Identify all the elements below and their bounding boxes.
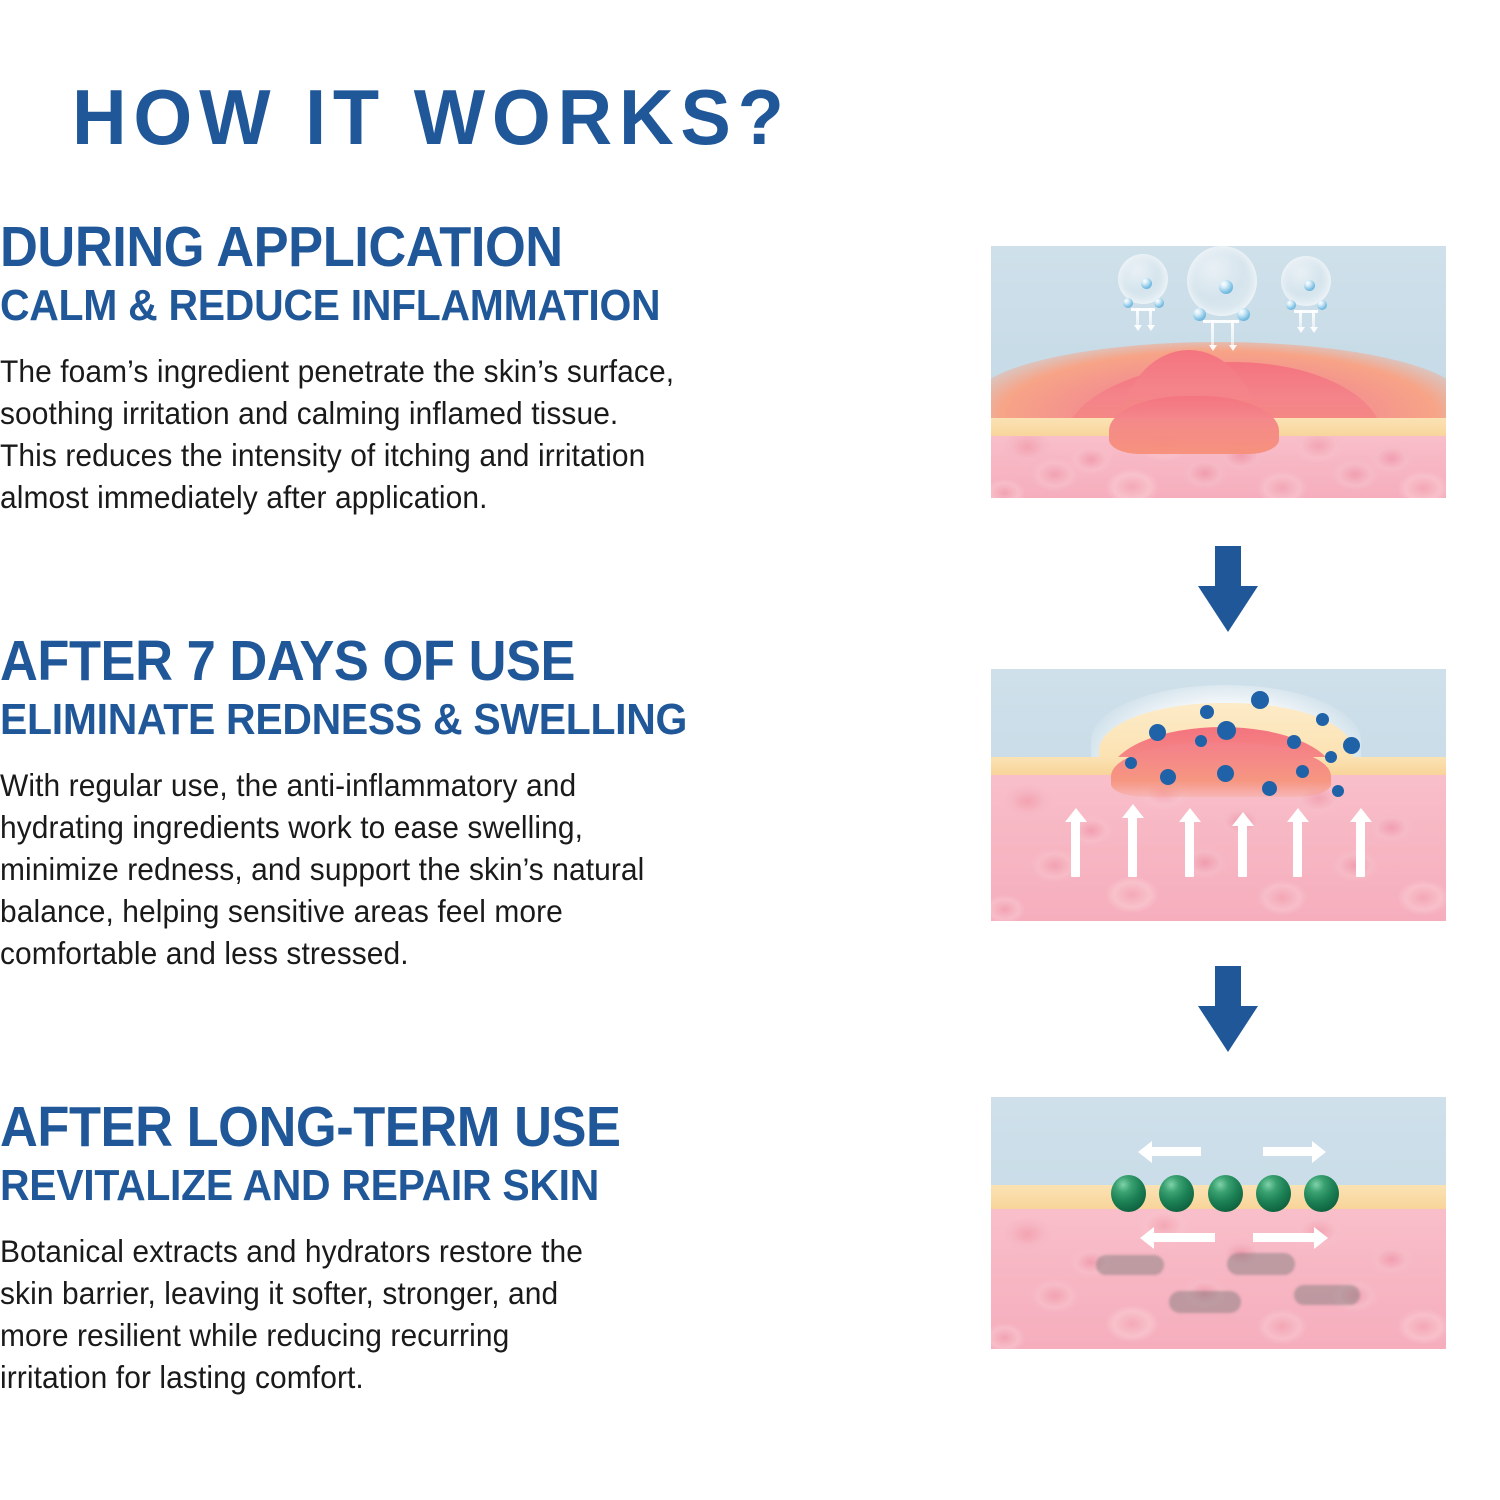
active-particle: [1195, 735, 1207, 747]
water-molecule-dot: [1154, 298, 1164, 308]
dermis-spread-arrow-left: [1153, 1233, 1215, 1242]
section-3-subheading: REVITALIZE AND REPAIR SKIN: [0, 1163, 837, 1209]
section-1-text: DURING APPLICATION CALM & REDUCE INFLAMM…: [0, 218, 900, 519]
active-particle: [1296, 765, 1309, 778]
foam-down-arrow: [1136, 308, 1139, 326]
section-2-text: AFTER 7 DAYS OF USE ELIMINATE REDNESS & …: [0, 632, 900, 975]
section-1-heading: DURING APPLICATION: [0, 218, 828, 276]
grey-capsule: [1169, 1291, 1241, 1313]
absorption-up-arrow: [1293, 821, 1302, 877]
active-particle: [1343, 737, 1360, 754]
grey-capsule: [1227, 1253, 1295, 1275]
page-title: HOW IT WORKS?: [72, 78, 791, 156]
foam-down-arrow: [1231, 320, 1234, 346]
repair-sphere: [1256, 1175, 1291, 1212]
dermis-layer: [991, 1209, 1446, 1349]
absorption-up-arrow: [1356, 821, 1365, 877]
active-particle: [1332, 785, 1344, 797]
section-3-text: AFTER LONG-TERM USE REVITALIZE AND REPAI…: [0, 1098, 900, 1399]
repair-sphere: [1208, 1175, 1243, 1212]
active-particle: [1217, 765, 1234, 782]
water-molecule-dot: [1286, 300, 1296, 310]
grey-capsule: [1096, 1255, 1164, 1275]
water-molecule-dot: [1141, 278, 1152, 289]
water-molecule-dot: [1304, 280, 1315, 291]
active-particle: [1217, 721, 1236, 740]
foam-down-arrow: [1299, 310, 1302, 328]
section-3-body: Botanical extracts and hydrators restore…: [0, 1231, 855, 1399]
water-molecule-dot: [1219, 280, 1233, 294]
active-particle: [1262, 781, 1277, 796]
illustration-panel-3: [991, 1097, 1446, 1349]
absorption-up-arrow: [1128, 817, 1137, 877]
section-1-subheading: CALM & REDUCE INFLAMMATION: [0, 283, 837, 329]
repair-sphere: [1111, 1175, 1146, 1212]
section-1-body: The foam’s ingredient penetrate the skin…: [0, 351, 855, 519]
dermis-spread-arrow-right: [1253, 1233, 1315, 1242]
barrier-spread-arrow-left: [1151, 1147, 1201, 1156]
water-molecule-dot: [1123, 298, 1133, 308]
active-particle: [1149, 724, 1166, 741]
inflamed-bump-base: [1109, 396, 1279, 454]
active-particle: [1325, 751, 1337, 763]
arrow-head: [1198, 1006, 1258, 1052]
arrow-step-1-to-2: [1188, 546, 1268, 636]
foam-down-arrow: [1149, 308, 1152, 326]
repair-sphere: [1159, 1175, 1194, 1212]
illustration-panel-1: [991, 246, 1446, 498]
active-particle: [1160, 769, 1176, 785]
barrier-spread-arrow-right: [1263, 1147, 1313, 1156]
section-3-heading: AFTER LONG-TERM USE: [0, 1098, 828, 1156]
foam-down-arrow: [1211, 320, 1214, 346]
active-particle: [1200, 705, 1214, 719]
section-2-body: With regular use, the anti-inflammatory …: [0, 765, 855, 974]
repair-sphere: [1304, 1175, 1339, 1212]
section-2-subheading: ELIMINATE REDNESS & SWELLING: [0, 697, 837, 743]
section-2-heading: AFTER 7 DAYS OF USE: [0, 632, 828, 690]
active-particle: [1251, 691, 1269, 709]
absorption-up-arrow: [1071, 821, 1080, 877]
active-particle: [1125, 757, 1137, 769]
arrow-shaft: [1215, 546, 1241, 588]
active-particle: [1287, 735, 1301, 749]
arrow-head: [1198, 586, 1258, 632]
grey-capsule: [1294, 1285, 1360, 1305]
arrow-shaft: [1215, 966, 1241, 1008]
absorption-up-arrow: [1185, 821, 1194, 877]
illustration-panel-2: [991, 669, 1446, 921]
water-molecule-dot: [1317, 300, 1327, 310]
absorption-up-arrow: [1238, 825, 1247, 877]
infographic-page: HOW IT WORKS? DURING APPLICATION CALM & …: [0, 0, 1500, 1500]
active-particle: [1316, 713, 1329, 726]
arrow-step-2-to-3: [1188, 966, 1268, 1056]
foam-down-arrow: [1312, 310, 1315, 328]
